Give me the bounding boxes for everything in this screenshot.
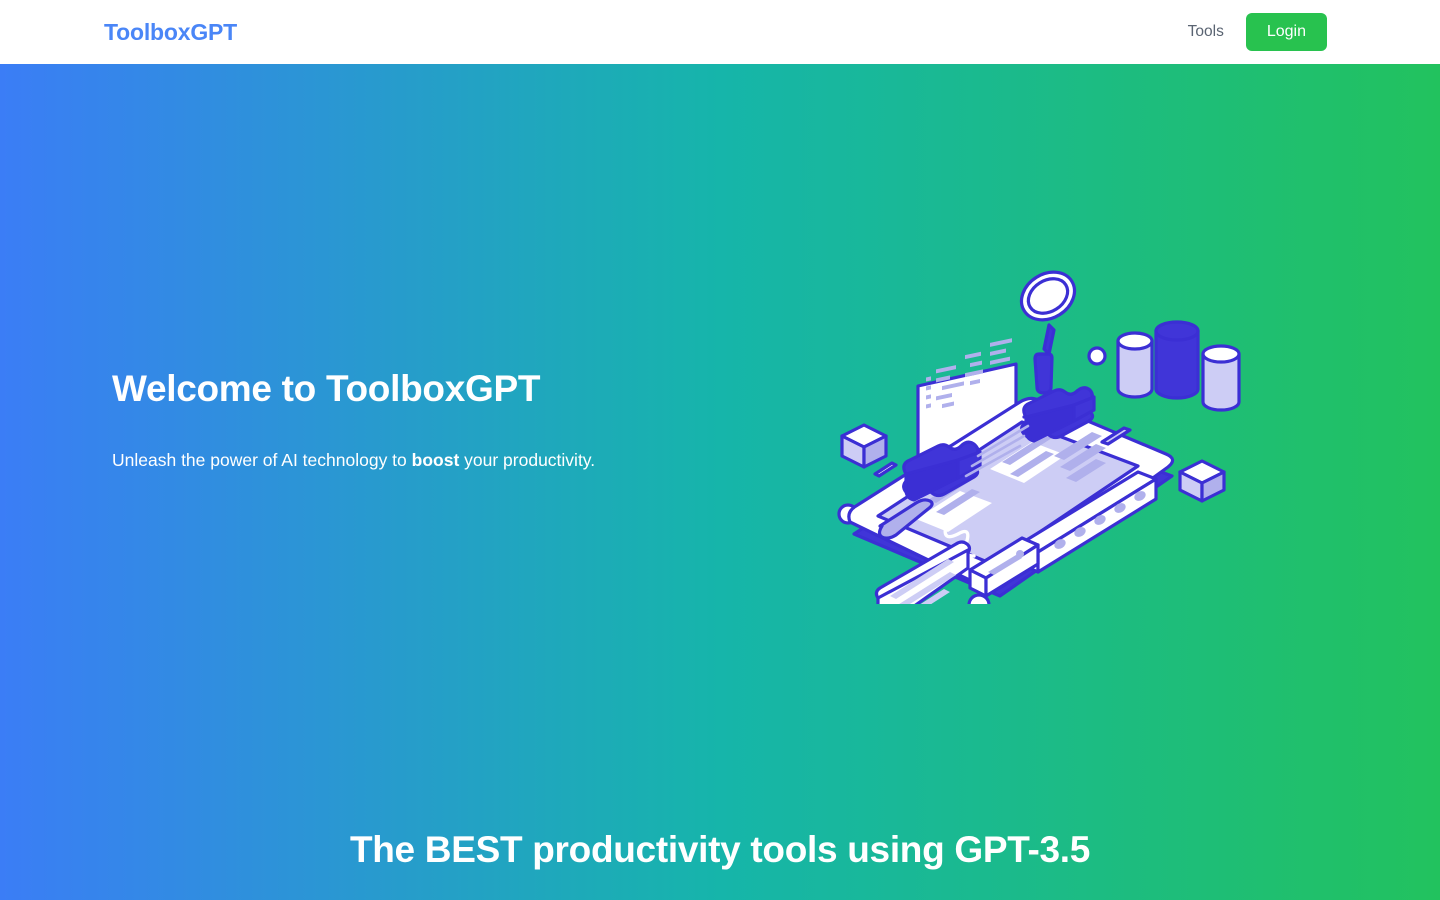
- cylinder-deep-center: [1156, 322, 1198, 398]
- magnifier-icon: [1013, 263, 1084, 393]
- cylinder-light-right: [1203, 346, 1239, 410]
- cylinder-light-left: [1118, 333, 1152, 397]
- hero-subtitle-bold: boost: [412, 450, 460, 470]
- login-button[interactable]: Login: [1246, 13, 1327, 51]
- hero-subtitle: Unleash the power of AI technology to bo…: [112, 448, 752, 473]
- hero-text-block: Welcome to ToolboxGPT Unleash the power …: [112, 367, 752, 473]
- nav-link-tools[interactable]: Tools: [1188, 23, 1224, 41]
- brand-logo[interactable]: ToolboxGPT: [104, 19, 237, 46]
- ai-productivity-isometric-illustration: [820, 204, 1260, 604]
- nav-actions: Tools Login: [1188, 13, 1327, 51]
- cube-left: [842, 425, 886, 467]
- navbar: ToolboxGPT Tools Login: [0, 0, 1440, 64]
- hero-bottom-title: The BEST productivity tools using GPT-3.…: [0, 829, 1440, 871]
- hero-section: Welcome to ToolboxGPT Unleash the power …: [0, 64, 1440, 900]
- hero-subtitle-after: your productivity.: [459, 450, 595, 470]
- cube-right: [1180, 461, 1224, 501]
- page-title: Welcome to ToolboxGPT: [112, 367, 752, 411]
- hero-subtitle-before: Unleash the power of AI technology to: [112, 450, 412, 470]
- dot-small-top: [1089, 348, 1105, 364]
